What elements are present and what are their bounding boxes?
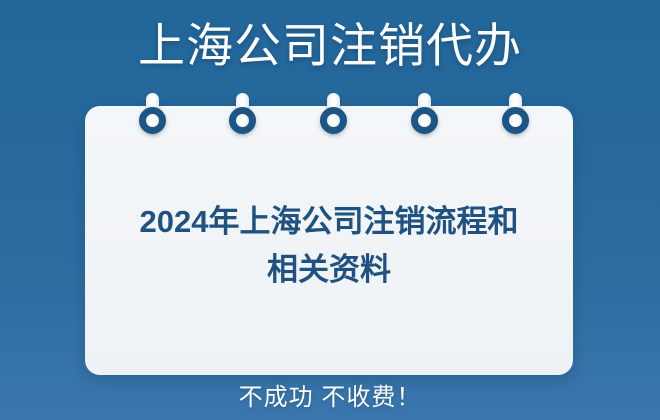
notepad-card: 2024年上海公司注销流程和 相关资料	[85, 106, 573, 375]
card-headline-line-2: 相关资料	[107, 246, 551, 294]
page-title: 上海公司注销代办	[0, 16, 660, 76]
card-headline-line-1: 2024年上海公司注销流程和	[107, 198, 551, 246]
footer-slogan: 不成功 不收费！	[0, 383, 660, 413]
card-headline: 2024年上海公司注销流程和 相关资料	[107, 198, 551, 294]
poster-canvas: 上海公司注销代办 2024年上海公司注销流程和 相关资料 不成功 不收费！	[0, 0, 660, 420]
